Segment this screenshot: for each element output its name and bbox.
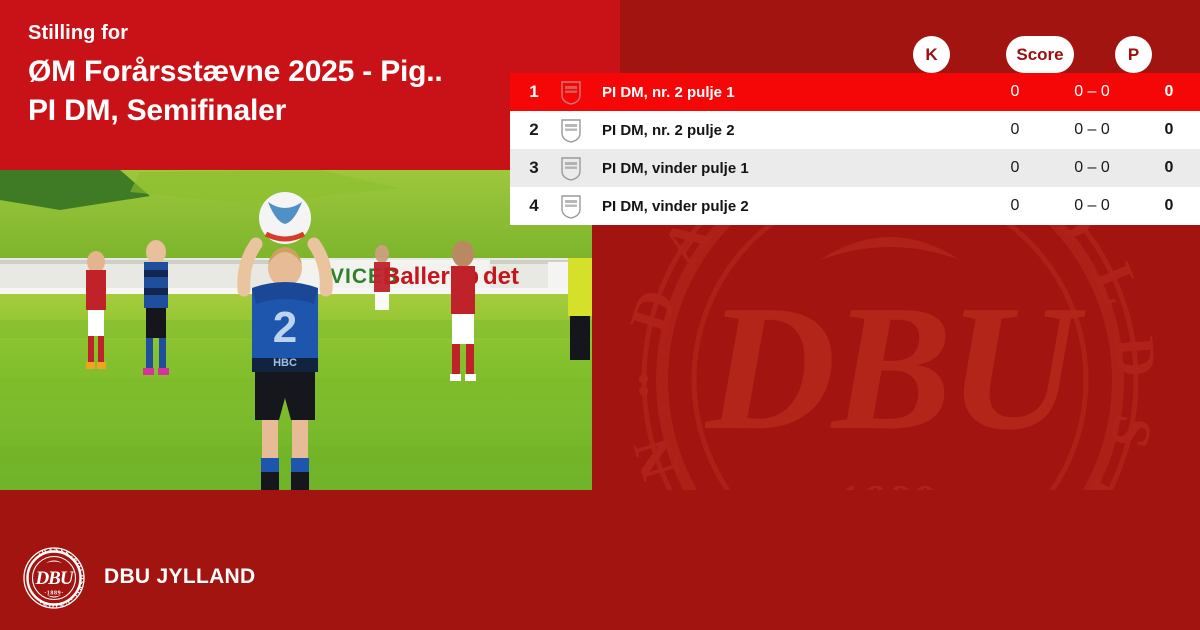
svg-text:DBU: DBU xyxy=(704,268,1086,467)
row-score: 0 – 0 xyxy=(1046,121,1138,139)
row-p: 0 xyxy=(1138,121,1200,139)
svg-text:2: 2 xyxy=(273,303,297,352)
row-k: 0 xyxy=(984,159,1046,177)
row-p: 0 xyxy=(1138,83,1200,101)
page-title: ØM Forårsstævne 2025 - Pig.. PI DM, Semi… xyxy=(28,52,528,130)
match-photo: VICES Ballerup det xyxy=(0,170,592,490)
column-header-k: K xyxy=(913,36,950,73)
club-shield-icon xyxy=(550,117,592,143)
row-score: 0 – 0 xyxy=(1046,197,1138,215)
table-row[interactable]: 3 PI DM, vinder pulje 1 0 0 – 0 0 xyxy=(510,149,1200,187)
row-k: 0 xyxy=(984,197,1046,215)
header-kicker: Stilling for xyxy=(28,22,128,45)
row-rank: 4 xyxy=(510,196,550,216)
row-team-name: PI DM, vinder pulje 1 xyxy=(592,160,988,177)
svg-text:HBC: HBC xyxy=(273,357,297,369)
row-rank: 2 xyxy=(510,120,550,140)
standings-table: K Score P 1 PI DM, nr. 2 pulje 1 0 0 – 0… xyxy=(510,36,1200,225)
row-score: 0 – 0 xyxy=(1046,159,1138,177)
table-row[interactable]: 4 PI DM, vinder pulje 2 0 0 – 0 0 xyxy=(510,187,1200,225)
row-rank: 3 xyxy=(510,158,550,178)
footer-org-name: DBU JYLLAND xyxy=(104,565,255,589)
page-title-line2: PI DM, Semifinaler xyxy=(28,91,528,130)
club-shield-icon xyxy=(550,155,592,181)
table-header-row: K Score P xyxy=(510,36,1200,73)
club-shield-icon xyxy=(550,79,592,105)
row-team-name: PI DM, nr. 2 pulje 2 xyxy=(592,122,988,139)
row-score: 0 – 0 xyxy=(1046,83,1138,101)
page-title-line1: ØM Forårsstævne 2025 - Pig.. xyxy=(28,55,443,88)
club-shield-icon xyxy=(550,193,592,219)
svg-text:det: det xyxy=(483,263,519,290)
row-team-name: PI DM, vinder pulje 2 xyxy=(592,198,988,215)
row-p: 0 xyxy=(1138,159,1200,177)
footer-band xyxy=(0,490,1200,630)
svg-text:DBU: DBU xyxy=(34,568,74,589)
column-header-score: Score xyxy=(1006,36,1074,73)
svg-text:·1889·: ·1889· xyxy=(44,591,64,597)
row-rank: 1 xyxy=(510,82,550,102)
dbu-crest-icon: ·DANSK·BOLDSPIL·UNION· DBU ·1889· xyxy=(22,546,86,610)
table-row[interactable]: 2 PI DM, nr. 2 pulje 2 0 0 – 0 0 xyxy=(510,111,1200,149)
stilling-graphic: · D A N S K · B O L D S P I L · U N I O … xyxy=(0,0,1200,630)
row-k: 0 xyxy=(984,121,1046,139)
row-team-name: PI DM, nr. 2 pulje 1 xyxy=(592,84,988,101)
row-p: 0 xyxy=(1138,197,1200,215)
table-row[interactable]: 1 PI DM, nr. 2 pulje 1 0 0 – 0 0 xyxy=(510,73,1200,111)
column-header-p: P xyxy=(1115,36,1152,73)
row-k: 0 xyxy=(984,83,1046,101)
